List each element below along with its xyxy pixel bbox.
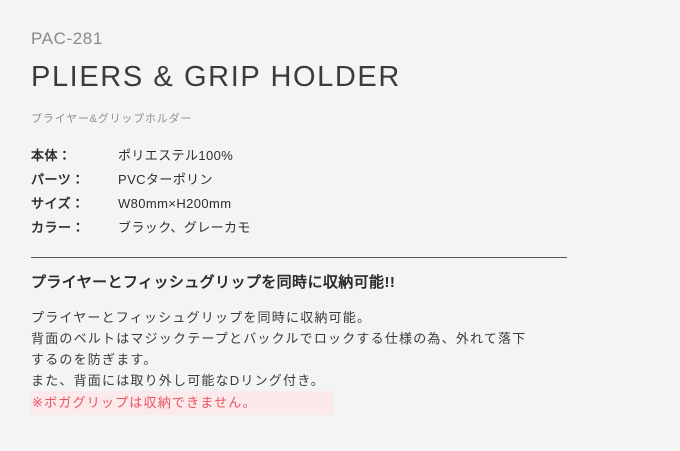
description-note-wrapper: ※ボガグリップは収納できません。 — [31, 391, 680, 415]
description-note: ※ボガグリップは収納できません。 — [31, 391, 333, 415]
table-row: サイズ： W80mm×H200mm — [31, 197, 251, 221]
product-subtitle: プライヤー&グリップホルダー — [31, 114, 680, 125]
table-row: パーツ： PVCターポリン — [31, 173, 251, 197]
spec-label-parts: パーツ： — [31, 173, 118, 197]
spec-label-material: 本体： — [31, 149, 118, 173]
spec-value-size: W80mm×H200mm — [118, 197, 251, 221]
description-headline: プライヤーとフィッシュグリップを同時に収納可能!! — [31, 274, 680, 292]
description-line: するのを防ぎます。 — [31, 349, 680, 370]
spec-value-color: ブラック、グレーカモ — [118, 221, 251, 245]
page-title: PLIERS & GRIP HOLDER — [31, 61, 680, 94]
section-divider — [31, 257, 567, 258]
description-line: 背面のベルトはマジックテープとバックルでロックする仕様の為、外れて落下 — [31, 328, 680, 349]
description-body: プライヤーとフィッシュグリップを同時に収納可能。 背面のベルトはマジックテープと… — [31, 307, 680, 415]
product-detail-page: PAC-281 PLIERS & GRIP HOLDER プライヤー&グリップホ… — [0, 0, 680, 451]
specification-table: 本体： ポリエステル100% パーツ： PVCターポリン サイズ： W80mm×… — [31, 149, 251, 245]
table-row: カラー： ブラック、グレーカモ — [31, 221, 251, 245]
description-line: また、背面には取り外し可能なDリング付き。 — [31, 370, 680, 391]
spec-value-parts: PVCターポリン — [118, 173, 251, 197]
description-line: プライヤーとフィッシュグリップを同時に収納可能。 — [31, 307, 680, 328]
table-row: 本体： ポリエステル100% — [31, 149, 251, 173]
spec-value-material: ポリエステル100% — [118, 149, 251, 173]
product-code: PAC-281 — [31, 0, 680, 47]
spec-label-color: カラー： — [31, 221, 118, 245]
spec-label-size: サイズ： — [31, 197, 118, 221]
